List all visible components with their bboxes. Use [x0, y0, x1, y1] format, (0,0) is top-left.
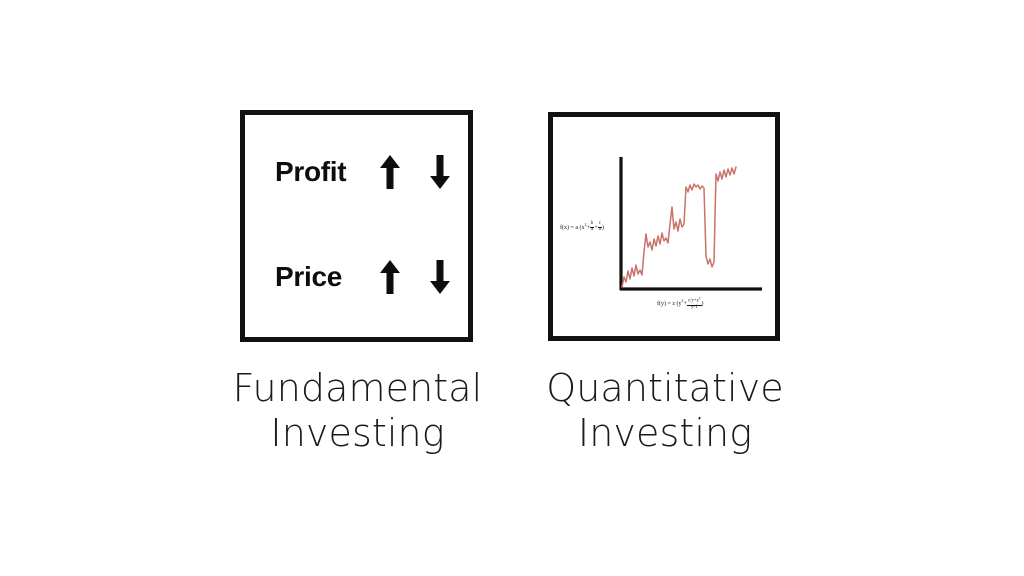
- metric-label-price: Price: [275, 261, 379, 293]
- formula-y-axis: f(x) = a (x2+ba+ca): [560, 222, 604, 233]
- metric-label-profit: Profit: [275, 156, 379, 188]
- metric-row-profit: Profit: [275, 155, 465, 189]
- formula-x-axis: f(y) = z (y2+c/y+z2y-1): [657, 297, 704, 310]
- chart-line-series: [622, 167, 736, 287]
- arrow-up-icon: [379, 155, 401, 189]
- quantitative-box: f(x) = a (x2+ba+ca) f(y) = z (y2+c/y+z2y…: [548, 112, 780, 341]
- arrow-pair-profit: [379, 155, 451, 189]
- metric-row-price: Price: [275, 260, 465, 294]
- caption-quantitative: Quantitative Investing: [500, 366, 830, 456]
- caption-line-2: Investing: [500, 411, 830, 456]
- fundamental-box: Profit Price: [240, 110, 473, 342]
- arrow-pair-price: [379, 260, 451, 294]
- slide-canvas: Profit Price: [0, 0, 1024, 576]
- caption-line-1: Fundamental: [190, 366, 525, 411]
- caption-line-2: Investing: [190, 411, 525, 456]
- arrow-up-icon: [379, 260, 401, 294]
- caption-fundamental: Fundamental Investing: [190, 366, 525, 456]
- arrow-down-icon: [429, 155, 451, 189]
- caption-line-1: Quantitative: [500, 366, 830, 411]
- chart-axes: [620, 157, 762, 290]
- mini-chart: f(x) = a (x2+ba+ca) f(y) = z (y2+c/y+z2y…: [553, 117, 775, 336]
- arrow-down-icon: [429, 260, 451, 294]
